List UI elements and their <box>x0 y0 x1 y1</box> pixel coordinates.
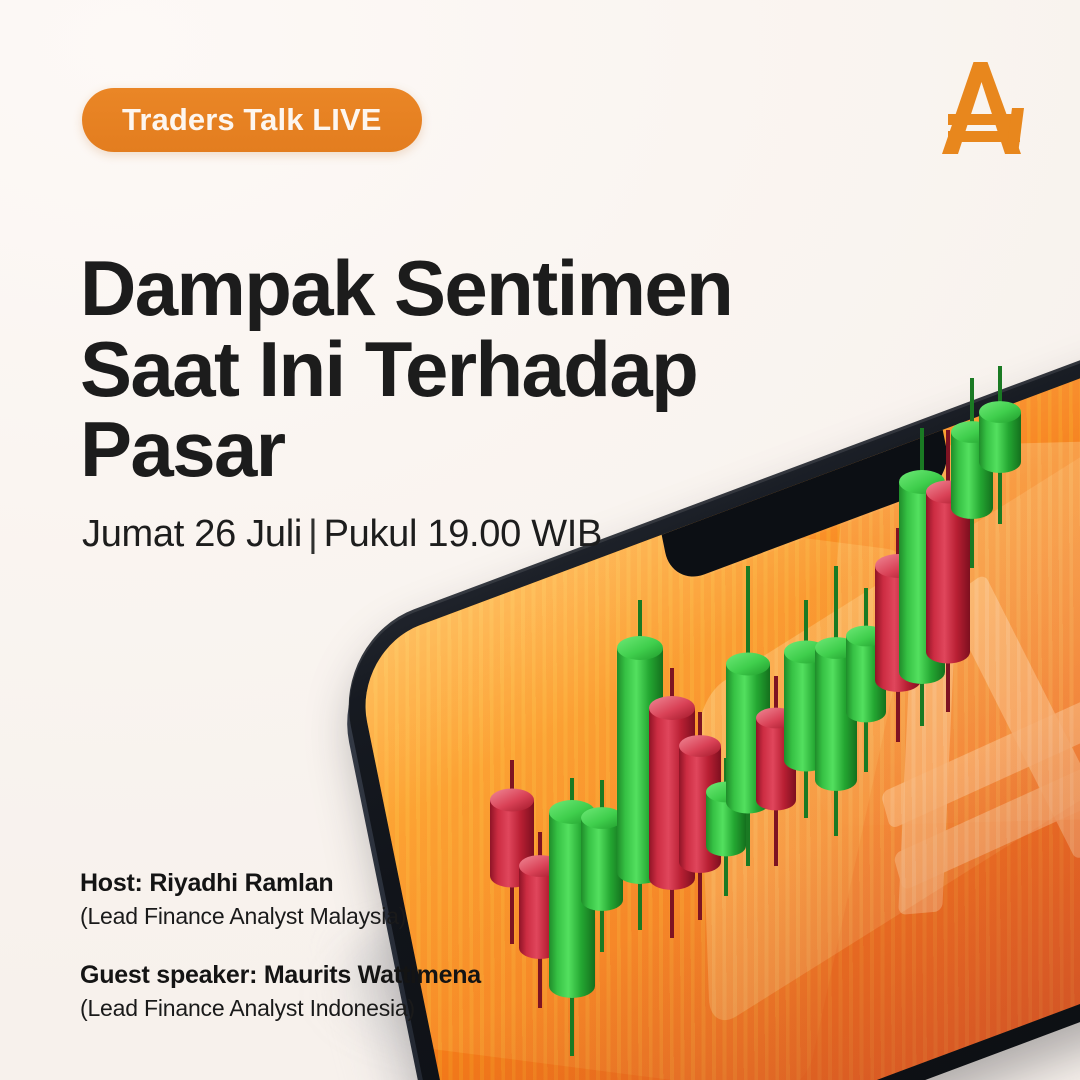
guest-name: Guest speaker: Maurits Wattimena <box>80 960 600 991</box>
host-entry: Host: Riyadhi Ramlan (Lead Finance Analy… <box>80 868 600 932</box>
event-date: Jumat 26 Juli <box>82 513 302 555</box>
candle-9 <box>726 566 770 866</box>
candle-14 <box>875 528 921 742</box>
headline-line-2: Saat Ini Terhadap <box>80 329 800 409</box>
schedule-separator: | <box>302 513 324 556</box>
candle-13 <box>846 588 886 772</box>
candle-8 <box>706 758 746 896</box>
screen-shape-c <box>812 437 1080 827</box>
candle-17 <box>951 378 993 568</box>
headline-line-1: Dampak Sentimen <box>80 248 800 328</box>
candle-5 <box>617 600 663 930</box>
candle-11 <box>784 600 828 818</box>
candle-15 <box>899 428 945 726</box>
candle-10 <box>756 676 796 866</box>
event-schedule: Jumat 26 Juli|Pukul 19.00 WIB <box>82 513 602 556</box>
speakers-block: Host: Riyadhi Ramlan (Lead Finance Analy… <box>80 868 600 1024</box>
host-name: Host: Riyadhi Ramlan <box>80 868 600 899</box>
screen-shape-b <box>698 412 1080 1033</box>
candle-7 <box>679 712 721 920</box>
promo-poster: Traders Talk LIVE Dampak Sentimen Saat I… <box>0 0 1080 1080</box>
guest-role: (Lead Finance Analyst Indonesia) <box>80 994 600 1024</box>
headline-line-3: Pasar <box>80 409 800 489</box>
guest-entry: Guest speaker: Maurits Wattimena (Lead F… <box>80 960 600 1024</box>
live-badge[interactable]: Traders Talk LIVE <box>82 88 422 152</box>
screen-brand-watermark <box>838 513 1080 926</box>
host-role: (Lead Finance Analyst Malaysia) <box>80 902 600 932</box>
candle-6 <box>649 668 695 938</box>
page-title: Dampak Sentimen Saat Ini Terhadap Pasar <box>80 248 800 489</box>
candle-18 <box>979 366 1021 524</box>
brand-a-currency-logo <box>926 58 1036 158</box>
event-time: Pukul 19.00 WIB <box>324 513 603 555</box>
candle-12 <box>815 566 857 836</box>
candle-16 <box>926 430 970 712</box>
live-badge-label: Traders Talk LIVE <box>122 102 382 138</box>
